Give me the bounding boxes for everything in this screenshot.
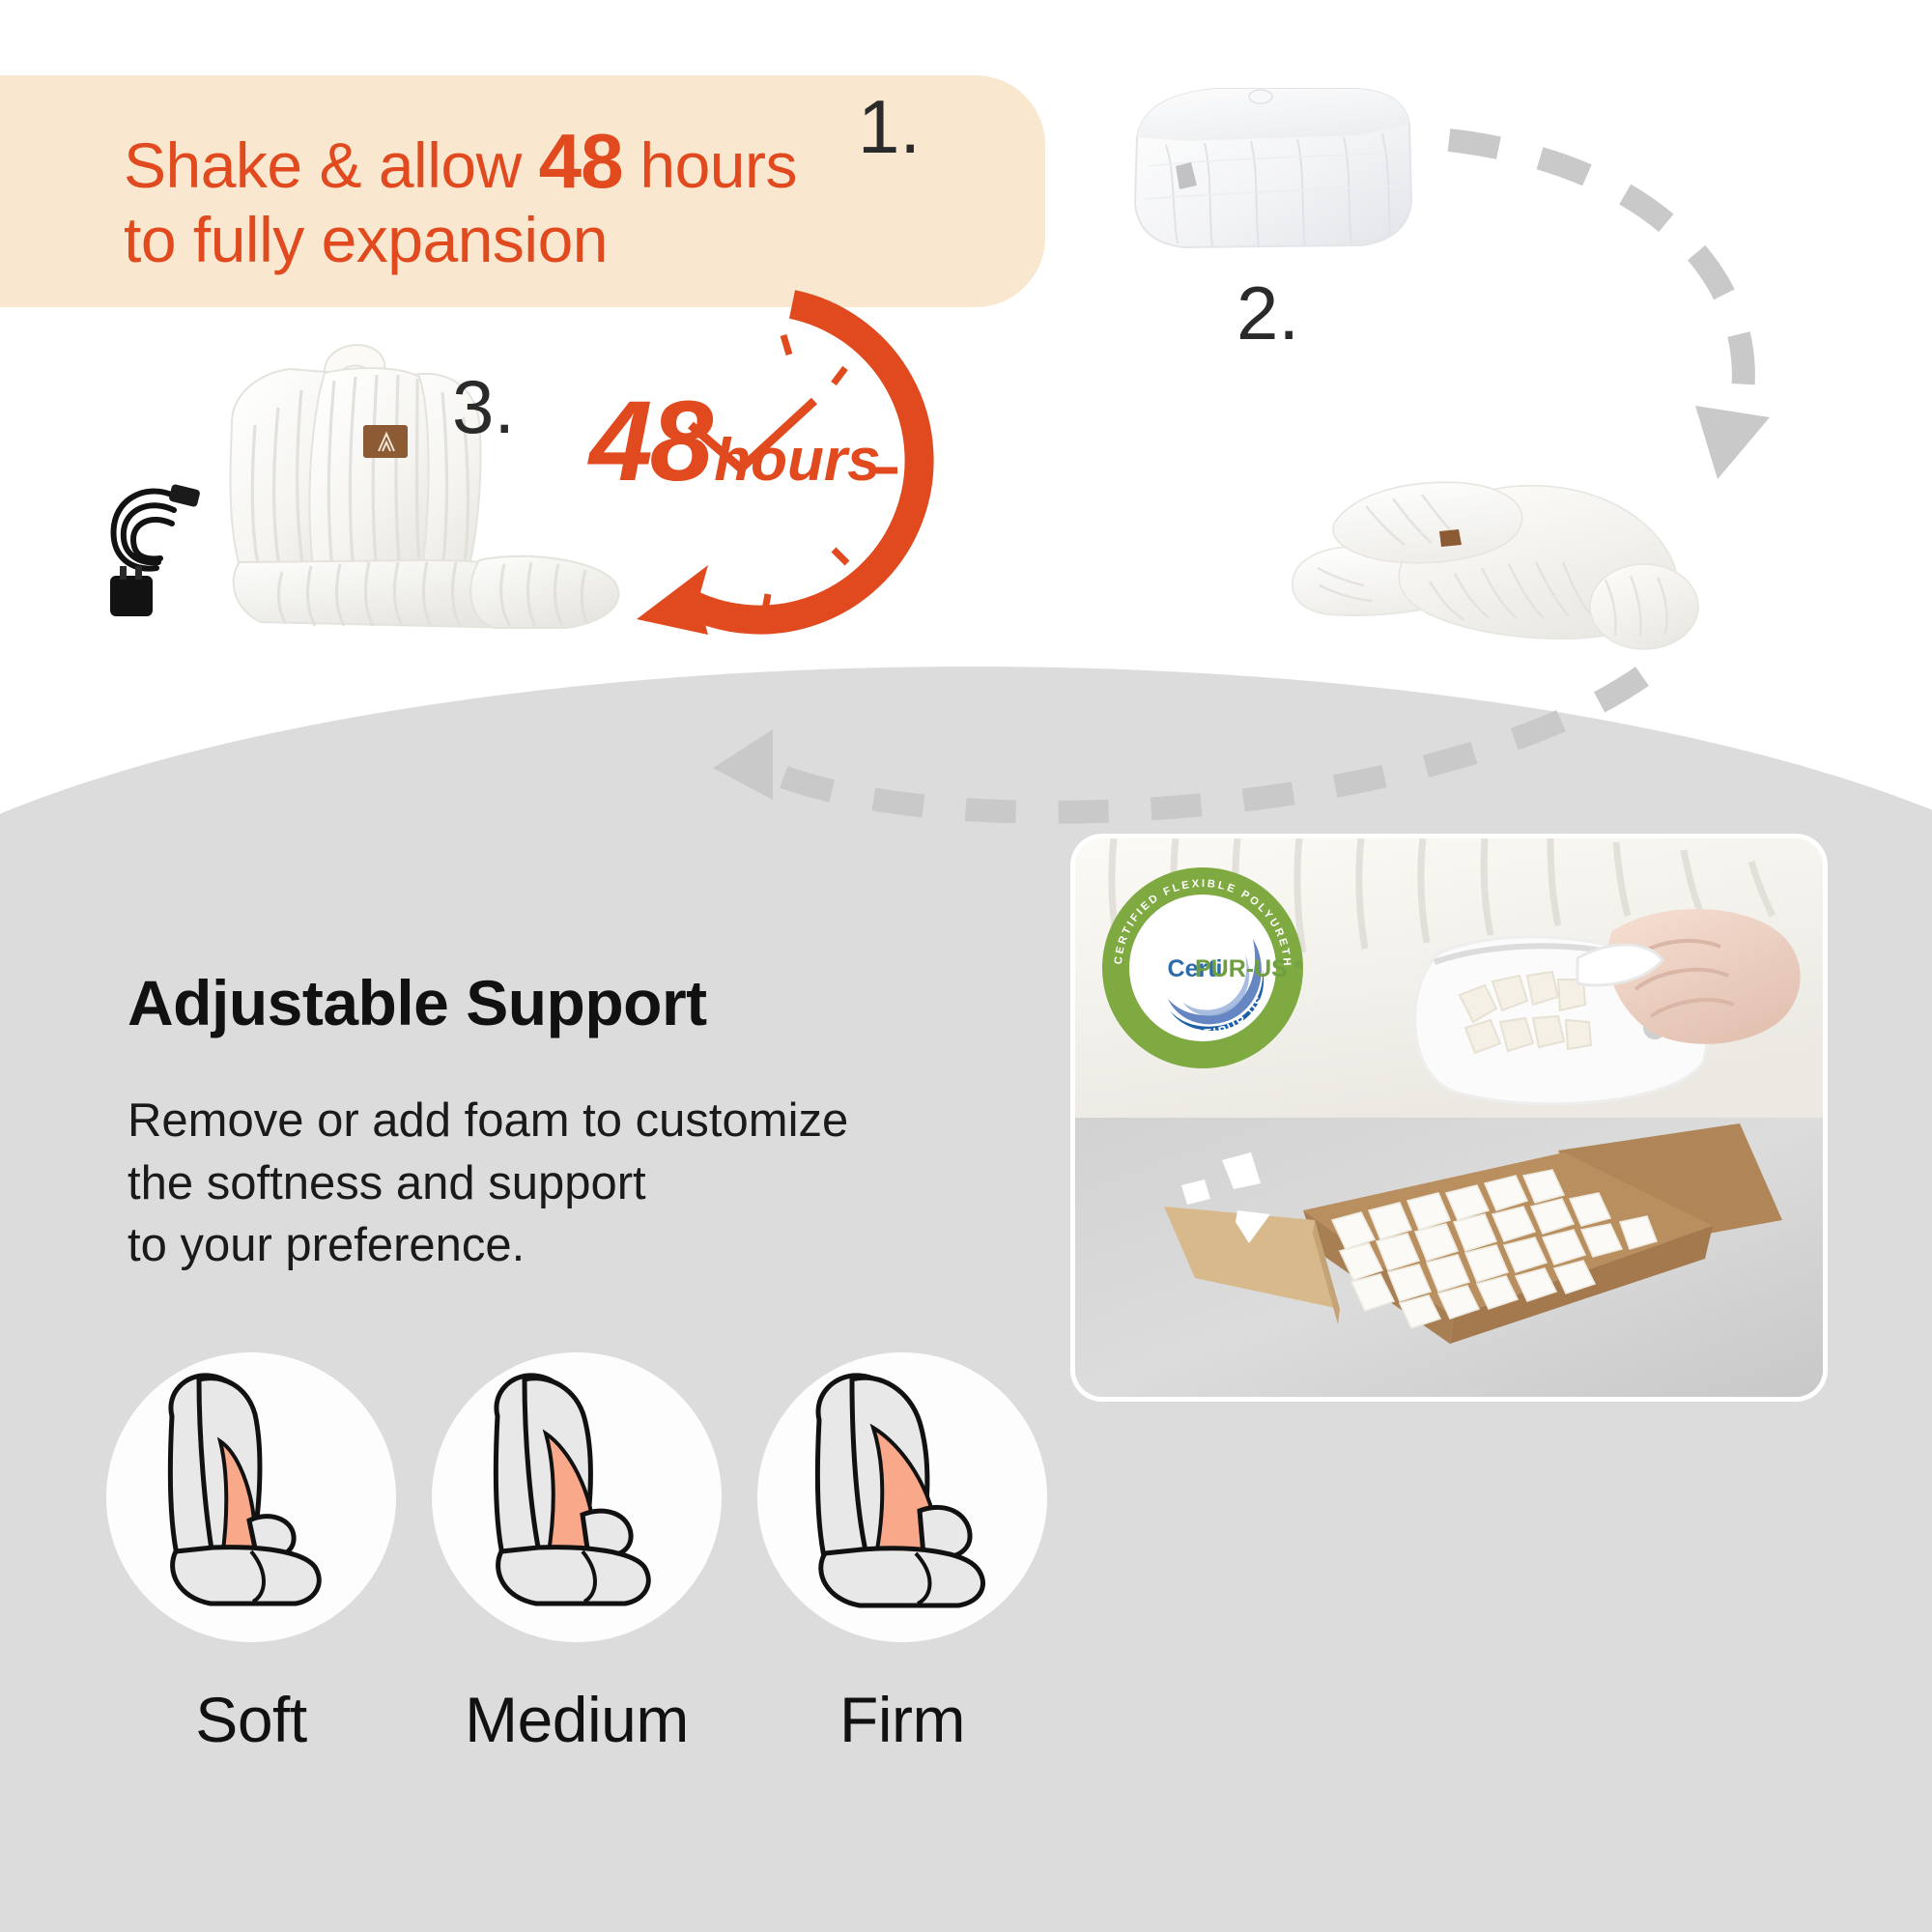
power-cable-image xyxy=(93,464,218,628)
firmness-circle-firm xyxy=(757,1352,1047,1642)
firmness-label-medium: Medium xyxy=(432,1683,722,1756)
arrowhead-1-to-2 xyxy=(1695,406,1770,479)
clock-48-hours-label: 48 hours xyxy=(589,384,881,498)
clock-unit: hours xyxy=(714,431,880,491)
banner-line1-pre: Shake & allow xyxy=(124,129,539,201)
foam-box-photo xyxy=(1075,1118,1823,1397)
infographic-canvas: 48 hours Shake & allow 48 hoursto fully … xyxy=(0,0,1932,1932)
pillow-diagram-medium xyxy=(432,1352,722,1642)
dashed-arrow-2-to-3 xyxy=(773,676,1642,812)
clock-arrowhead xyxy=(637,565,708,635)
pillow-diagram-soft xyxy=(106,1352,396,1642)
foam-removal-photo: Certi PUR-US ® CONTAINS CERTIFIED FLEXIB… xyxy=(1075,838,1823,1118)
photo-panel: Certi PUR-US ® CONTAINS CERTIFIED FLEXIB… xyxy=(1075,838,1823,1397)
section-title: Adjustable Support xyxy=(128,966,707,1039)
clock-value: 48 xyxy=(589,384,710,498)
vacuum-sealed-package-image xyxy=(1116,77,1435,261)
section-body-text: Remove or add foam to customize the soft… xyxy=(128,1090,848,1277)
dashed-arrow-1-to-2 xyxy=(1449,140,1744,415)
firmness-circle-soft xyxy=(106,1352,396,1642)
certipur-us-badge: Certi PUR-US ® CONTAINS CERTIFIED FLEXIB… xyxy=(1100,866,1305,1070)
firmness-label-firm: Firm xyxy=(757,1683,1047,1756)
step-number-2: 2. xyxy=(1236,275,1299,351)
partially-expanded-pillow-image xyxy=(1285,473,1748,652)
banner-line2: to fully expansion xyxy=(124,204,608,275)
firmness-option-firm[interactable]: Firm xyxy=(757,1352,1047,1756)
arrowhead-2-to-3 xyxy=(713,729,773,800)
firmness-option-soft[interactable]: Soft xyxy=(106,1352,396,1756)
step-number-3: 3. xyxy=(452,369,515,444)
banner-hours-number: 48 xyxy=(539,118,623,204)
step-number-1: 1. xyxy=(858,89,921,164)
firmness-label-soft: Soft xyxy=(106,1683,396,1756)
foam-box-illustration xyxy=(1075,1118,1823,1397)
firmness-options: Soft Medium xyxy=(0,1352,1063,1893)
badge-brand-purus: PUR-US xyxy=(1195,955,1288,982)
brand-leather-tag xyxy=(363,425,408,458)
firmness-option-medium[interactable]: Medium xyxy=(432,1352,722,1756)
banner-line1-post: hours xyxy=(623,129,797,201)
pillow-diagram-firm xyxy=(757,1352,1047,1642)
firmness-circle-medium xyxy=(432,1352,722,1642)
badge-registered-mark: ® xyxy=(1294,959,1302,971)
